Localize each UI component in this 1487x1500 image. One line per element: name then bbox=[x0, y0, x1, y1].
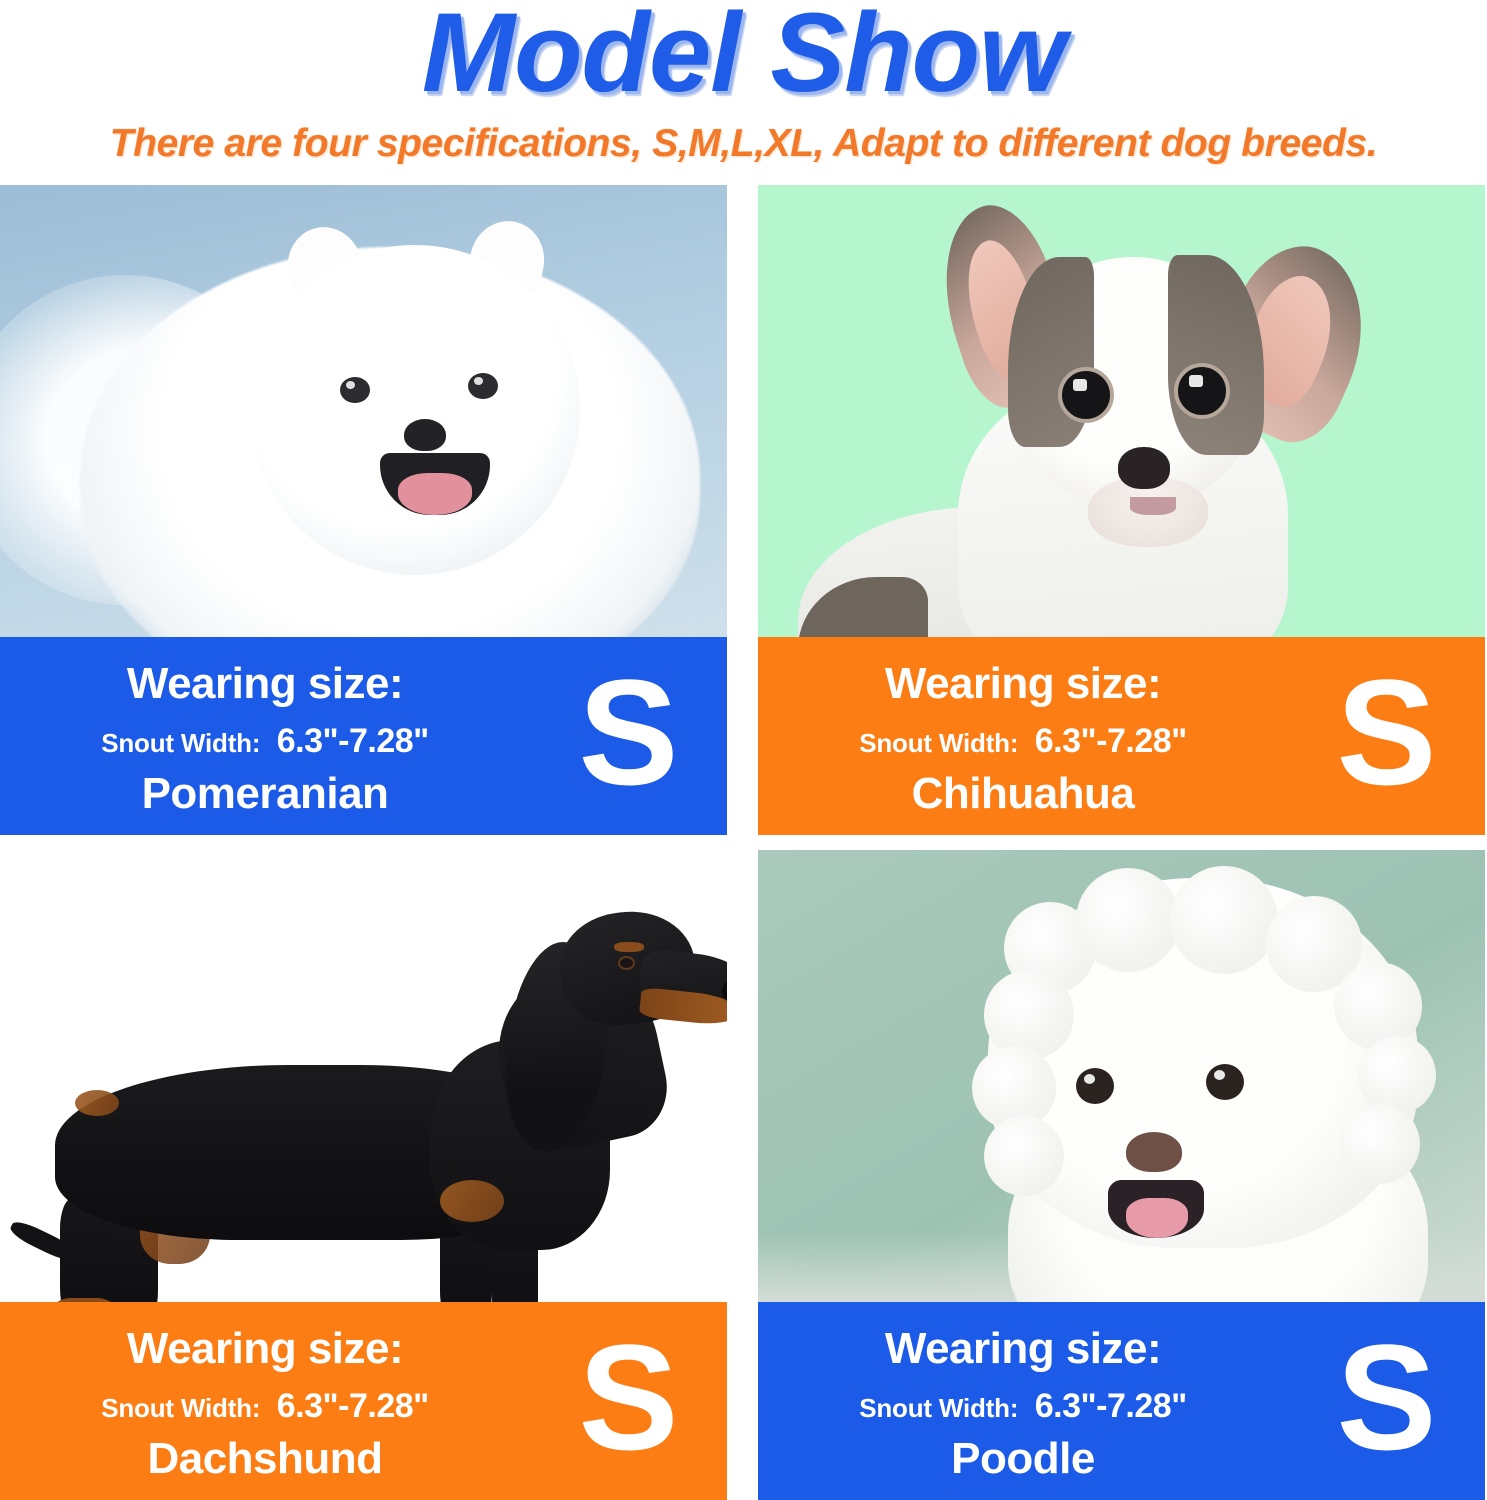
fur-curl bbox=[1340, 1104, 1420, 1184]
breed-panel-dachshund: Wearing size: Snout Width: 6.3"-7.28" Da… bbox=[0, 850, 727, 1500]
dog-eye-left bbox=[1076, 1068, 1114, 1104]
size-letter: S bbox=[530, 637, 727, 835]
dog-eye-right bbox=[1206, 1064, 1244, 1100]
model-show-page: Model Show There are four specifications… bbox=[0, 0, 1487, 1500]
breed-name: Dachshund bbox=[0, 1434, 530, 1484]
page-subtitle: There are four specifications, S,M,L,XL,… bbox=[0, 122, 1487, 166]
snout-width-label: Snout Width: bbox=[859, 1393, 1018, 1423]
fur-curl bbox=[1170, 866, 1278, 974]
caption-bar: Wearing size: Snout Width: 6.3"-7.28" Po… bbox=[0, 637, 727, 835]
dog-tan-hip-marking bbox=[75, 1090, 119, 1116]
page-title: Model Show bbox=[0, 0, 1487, 113]
breed-panel-pomeranian: Wearing size: Snout Width: 6.3"-7.28" Po… bbox=[0, 185, 727, 835]
breed-panel-poodle: Wearing size: Snout Width: 6.3"-7.28" Po… bbox=[758, 850, 1485, 1500]
dog-nose bbox=[404, 419, 446, 451]
dog-eye-right bbox=[1174, 363, 1230, 419]
snout-width-row: Snout Width: 6.3"-7.28" bbox=[758, 722, 1288, 761]
size-letter: S bbox=[1288, 637, 1485, 835]
snout-width-row: Snout Width: 6.3"-7.28" bbox=[0, 1387, 530, 1426]
chihuahua-photo bbox=[758, 185, 1485, 637]
caption-text-block: Wearing size: Snout Width: 6.3"-7.28" Po… bbox=[758, 1302, 1288, 1500]
caption-text-block: Wearing size: Snout Width: 6.3"-7.28" Ch… bbox=[758, 637, 1288, 835]
dog-tongue bbox=[1126, 1198, 1188, 1238]
snout-width-value: 6.3"-7.28" bbox=[277, 1387, 429, 1425]
caption-bar: Wearing size: Snout Width: 6.3"-7.28" Da… bbox=[0, 1302, 727, 1500]
breed-panel-chihuahua: Wearing size: Snout Width: 6.3"-7.28" Ch… bbox=[758, 185, 1485, 835]
fur-curl bbox=[1358, 1036, 1436, 1114]
caption-bar: Wearing size: Snout Width: 6.3"-7.28" Po… bbox=[758, 1302, 1485, 1500]
dog-tan-belly-marking bbox=[440, 1180, 504, 1222]
snout-width-value: 6.3"-7.28" bbox=[277, 722, 429, 760]
snout-width-value: 6.3"-7.28" bbox=[1035, 722, 1187, 760]
header: Model Show There are four specifications… bbox=[0, 0, 1487, 182]
dog-eye bbox=[618, 956, 635, 970]
caption-text-block: Wearing size: Snout Width: 6.3"-7.28" Da… bbox=[0, 1302, 530, 1500]
dog-tongue bbox=[398, 473, 472, 515]
caption-bar: Wearing size: Snout Width: 6.3"-7.28" Ch… bbox=[758, 637, 1485, 835]
dog-nose bbox=[1118, 447, 1170, 489]
breed-name: Chihuahua bbox=[758, 769, 1288, 819]
snout-width-label: Snout Width: bbox=[859, 728, 1018, 758]
wearing-size-label: Wearing size: bbox=[758, 659, 1288, 709]
size-letter: S bbox=[1288, 1302, 1485, 1500]
fur-curl bbox=[984, 970, 1074, 1060]
dog-eye-left bbox=[1058, 367, 1114, 423]
caption-text-block: Wearing size: Snout Width: 6.3"-7.28" Po… bbox=[0, 637, 530, 835]
dog-nose bbox=[1126, 1132, 1182, 1172]
snout-width-row: Snout Width: 6.3"-7.28" bbox=[0, 722, 530, 761]
dog-head bbox=[250, 245, 580, 575]
wearing-size-label: Wearing size: bbox=[758, 1324, 1288, 1374]
fur-curl bbox=[984, 1116, 1064, 1196]
breed-name: Poodle bbox=[758, 1434, 1288, 1484]
dog-eye-left bbox=[340, 377, 370, 403]
poodle-photo bbox=[758, 850, 1485, 1302]
fur-curl bbox=[1334, 962, 1422, 1050]
dachshund-photo bbox=[0, 850, 727, 1302]
dog-mouth bbox=[1130, 497, 1176, 515]
snout-width-label: Snout Width: bbox=[101, 1393, 260, 1423]
dog-eye-right bbox=[468, 373, 498, 399]
breed-grid: Wearing size: Snout Width: 6.3"-7.28" Po… bbox=[0, 185, 1487, 1495]
snout-width-value: 6.3"-7.28" bbox=[1035, 1387, 1187, 1425]
snout-width-label: Snout Width: bbox=[101, 728, 260, 758]
dog-eyebrow bbox=[614, 942, 644, 952]
size-letter: S bbox=[530, 1302, 727, 1500]
pomeranian-photo bbox=[0, 185, 727, 637]
snout-width-row: Snout Width: 6.3"-7.28" bbox=[758, 1387, 1288, 1426]
wearing-size-label: Wearing size: bbox=[0, 659, 530, 709]
fur-curl bbox=[1076, 868, 1180, 972]
wearing-size-label: Wearing size: bbox=[0, 1324, 530, 1374]
breed-name: Pomeranian bbox=[0, 769, 530, 819]
